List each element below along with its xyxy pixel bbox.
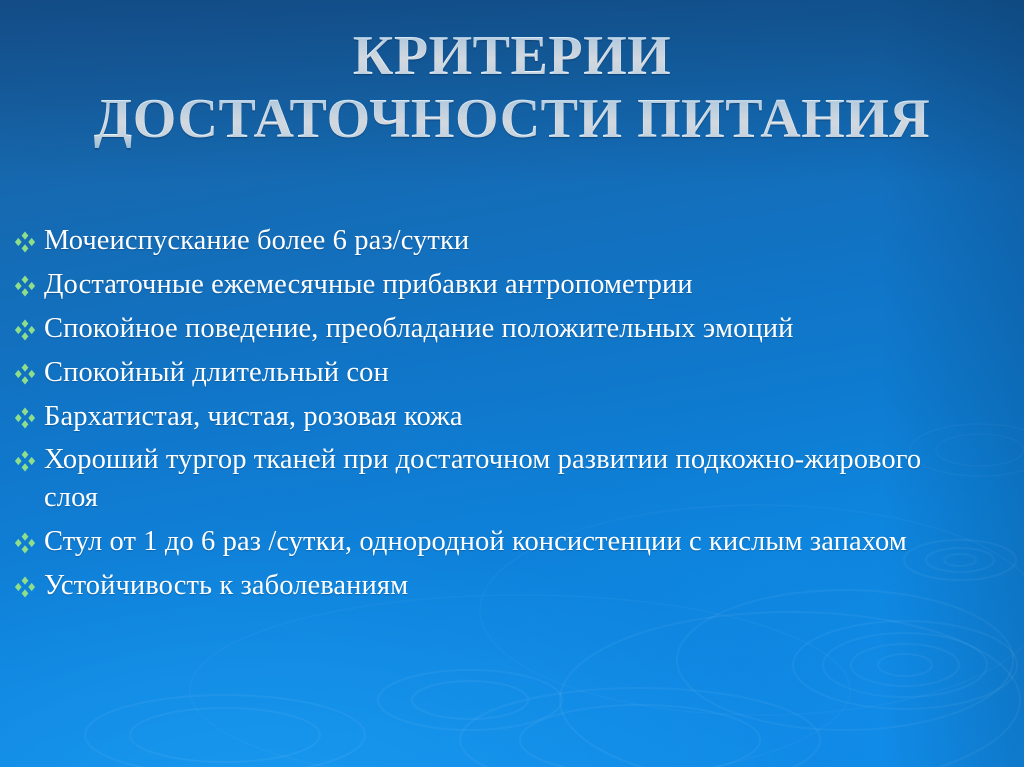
list-item-text: Спокойное поведение, преобладание положи… [44, 310, 972, 348]
list-item-text: Спокойный длительный сон [44, 354, 1014, 392]
diamond-cluster-bullet-icon [6, 266, 44, 297]
list-item-text: Мочеиспускание более 6 раз/сутки [44, 222, 1014, 260]
title-line-2: ДОСТАТОЧНОСТИ ПИТАНИЯ [0, 91, 1024, 148]
list-item-text: Бархатистая, чистая, розовая кожа [44, 398, 1014, 436]
bullet-list: Мочеиспускание более 6 раз/сутки Достато… [6, 222, 1014, 611]
list-item: Спокойное поведение, преобладание положи… [6, 310, 1014, 348]
diamond-cluster-bullet-icon [6, 310, 44, 341]
diamond-cluster-bullet-icon [6, 441, 44, 472]
page-title: КРИТЕРИИ ДОСТАТОЧНОСТИ ПИТАНИЯ [0, 28, 1024, 148]
list-item-text: Стул от 1 до 6 раз /сутки, однородной ко… [44, 523, 972, 561]
title-line-1: КРИТЕРИИ [0, 28, 1024, 85]
list-item: Бархатистая, чистая, розовая кожа [6, 398, 1014, 436]
list-item-text: Устойчивость к заболеваниям [44, 567, 1014, 605]
list-item-text: Достаточные ежемесячные прибавки антропо… [44, 266, 1014, 304]
diamond-cluster-bullet-icon [6, 222, 44, 253]
diamond-cluster-bullet-icon [6, 398, 44, 429]
diamond-cluster-bullet-icon [6, 567, 44, 598]
list-item: Спокойный длительный сон [6, 354, 1014, 392]
list-item: Мочеиспускание более 6 раз/сутки [6, 222, 1014, 260]
list-item: Достаточные ежемесячные прибавки антропо… [6, 266, 1014, 304]
diamond-cluster-bullet-icon [6, 354, 44, 385]
presentation-slide: КРИТЕРИИ ДОСТАТОЧНОСТИ ПИТАНИЯ Мочеиспус… [0, 0, 1024, 767]
list-item: Устойчивость к заболеваниям [6, 567, 1014, 605]
list-item: Хороший тургор тканей при достаточном ра… [6, 441, 1014, 517]
list-item: Стул от 1 до 6 раз /сутки, однородной ко… [6, 523, 1014, 561]
list-item-text: Хороший тургор тканей при достаточном ра… [44, 441, 972, 517]
diamond-cluster-bullet-icon [6, 523, 44, 554]
